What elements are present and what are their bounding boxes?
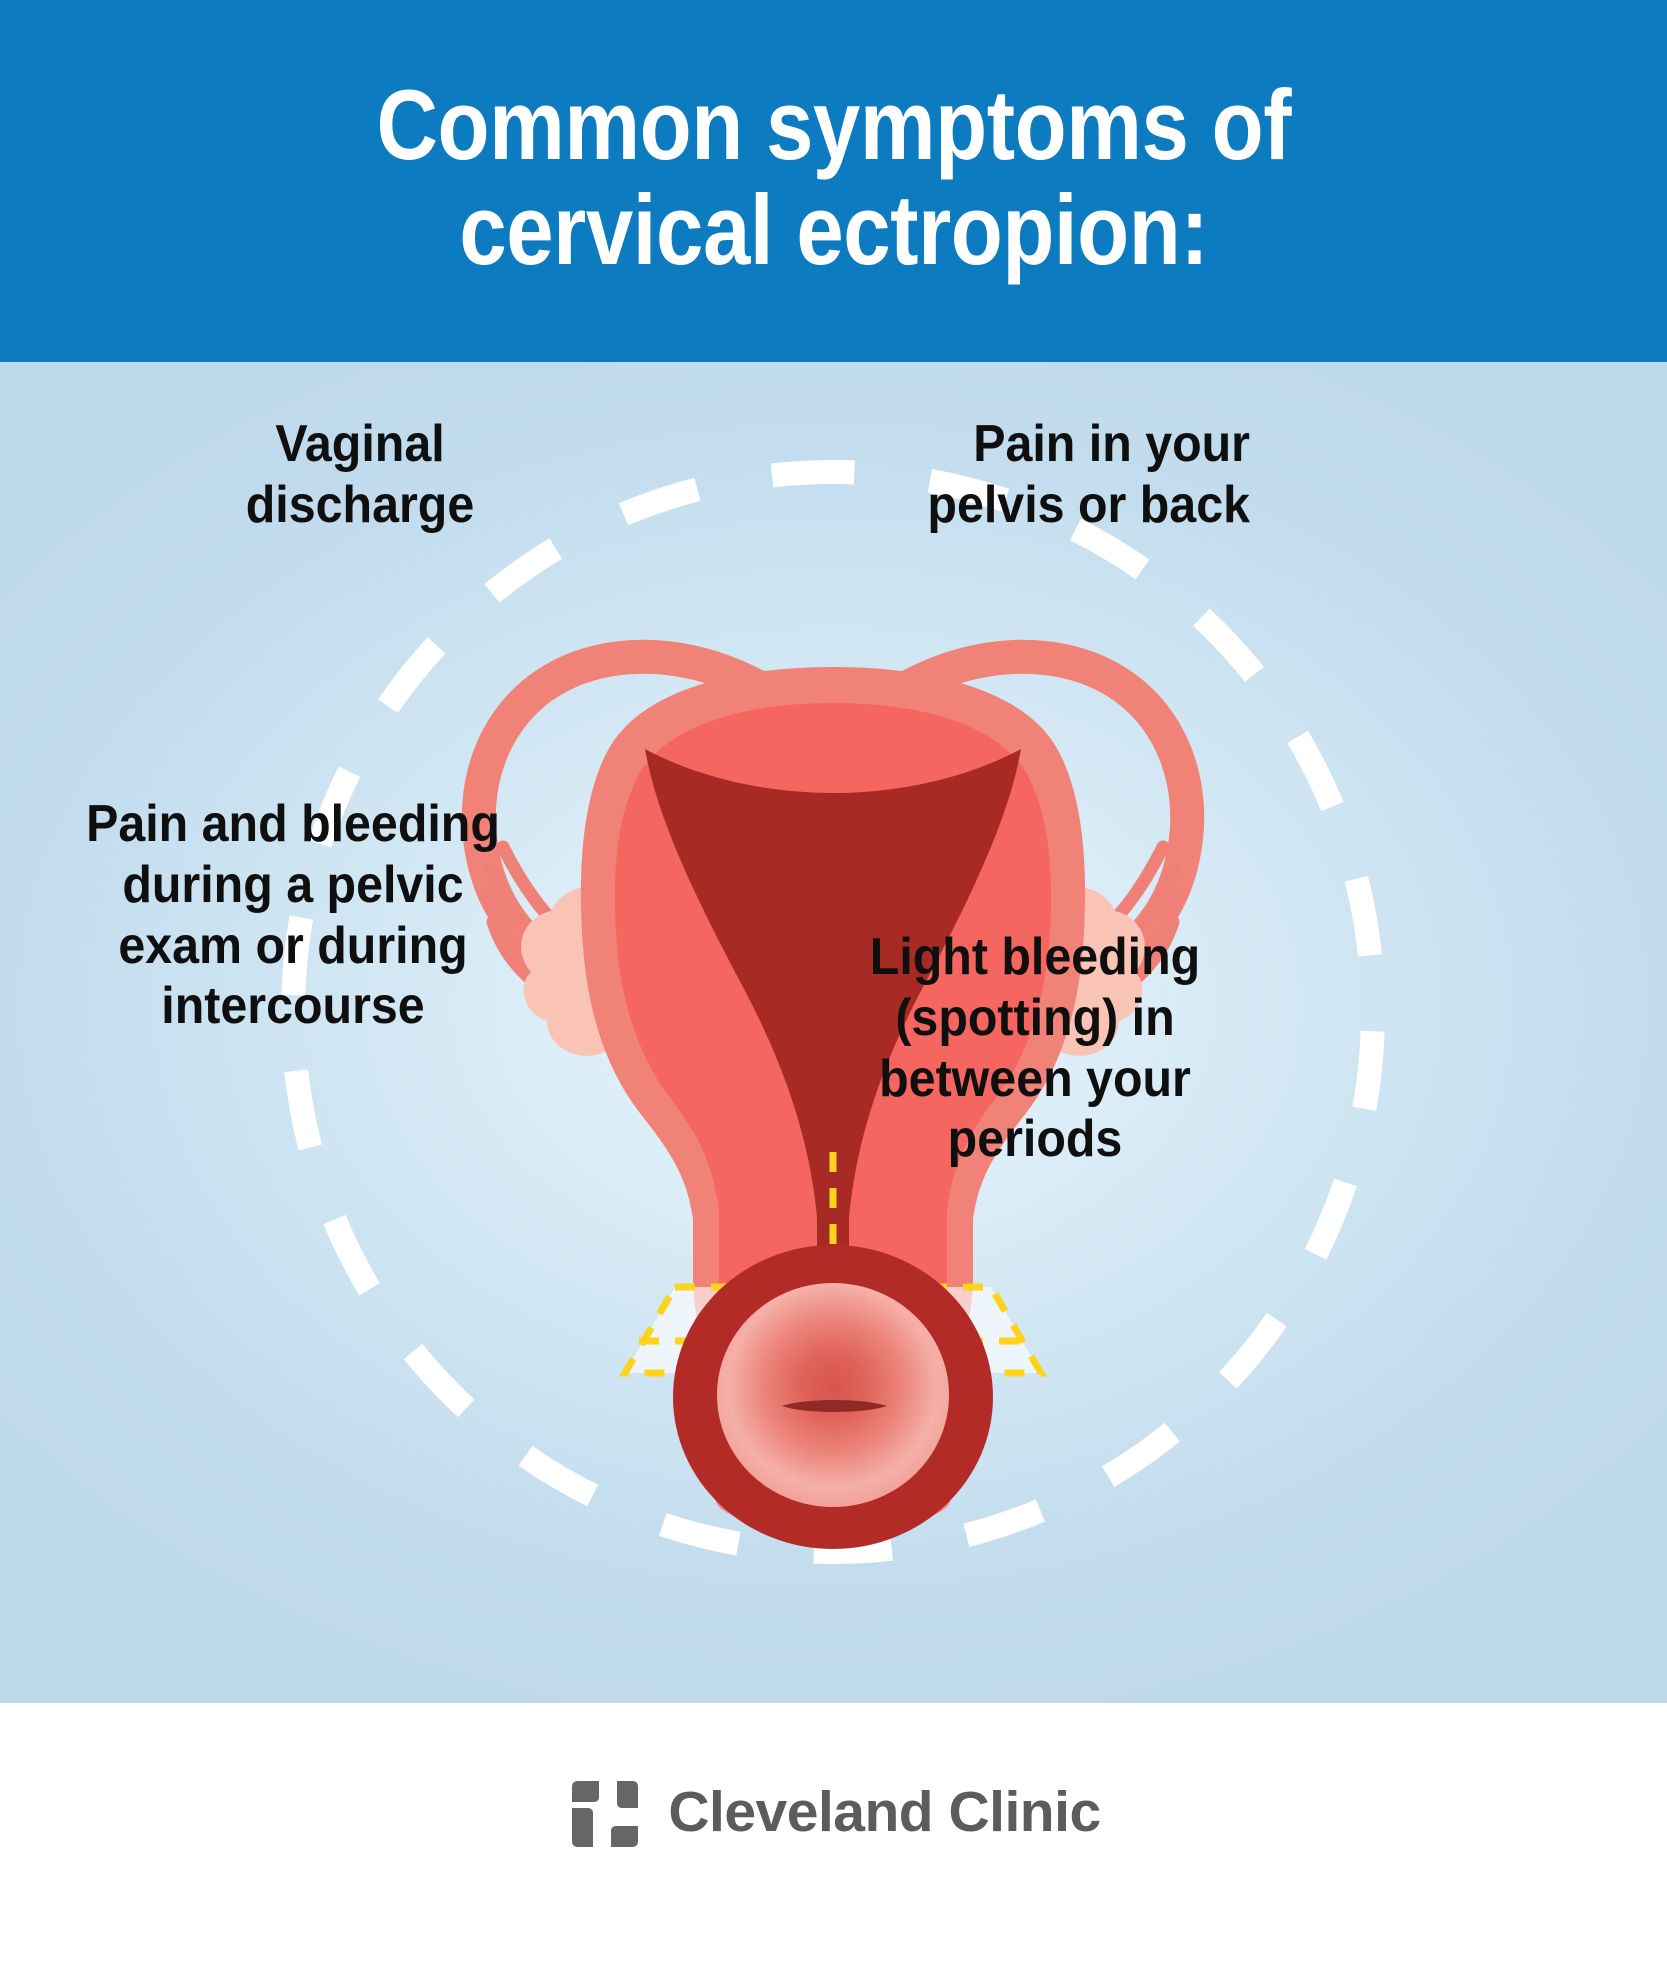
symptom-label-vaginal-discharge: Vaginal discharge bbox=[165, 414, 556, 536]
cleveland-clinic-logo: Cleveland Clinic bbox=[0, 1775, 1667, 1853]
header-banner: Common symptoms of cervical ectropion: bbox=[0, 0, 1667, 362]
illustration-panel: Vaginal discharge Pain in your pelvis or… bbox=[0, 362, 1667, 1703]
symptom-label-pelvis-or-back-pain: Pain in your pelvis or back bbox=[808, 414, 1250, 536]
cleveland-clinic-logo-text: Cleveland Clinic bbox=[668, 1784, 1100, 1845]
cervix-face bbox=[717, 1283, 949, 1507]
footer: Cleveland Clinic bbox=[0, 1703, 1667, 1979]
page-title: Common symptoms of cervical ectropion: bbox=[376, 73, 1291, 289]
symptom-label-spotting-between-periods: Light bleeding (spotting) in between you… bbox=[821, 927, 1249, 1170]
symptom-label-pelvic-exam-intercourse-pain: Pain and bleeding during a pelvic exam o… bbox=[47, 794, 540, 1037]
cervical-os-view bbox=[575, 1152, 1091, 1572]
infographic-page: Common symptoms of cervical ectropion: bbox=[0, 0, 1667, 1979]
cleveland-clinic-logo-icon bbox=[566, 1775, 644, 1853]
